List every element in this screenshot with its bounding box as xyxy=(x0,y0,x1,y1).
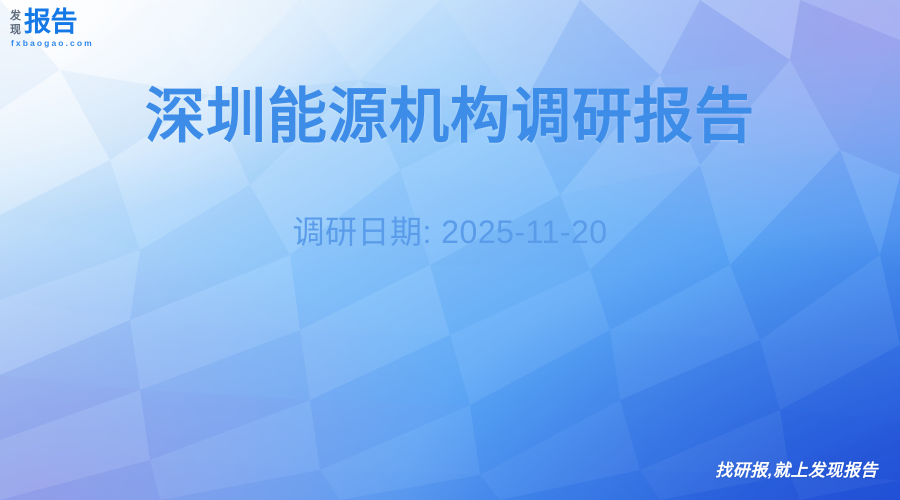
page-title: 深圳能源机构调研报告 xyxy=(0,80,900,154)
logo-mark: 发 现 xyxy=(10,9,21,36)
footer-slogan: 找研报,就上发现报告 xyxy=(715,460,878,482)
cover-text-block: 深圳能源机构调研报告 调研日期: 2025-11-20 xyxy=(0,80,900,252)
logo-domain: fxbaogao.com xyxy=(11,38,94,48)
brand-logo[interactable]: 发 现 报告 fxbaogao.com xyxy=(10,9,94,48)
logo-mark-line2: 现 xyxy=(10,24,21,36)
survey-date-subtitle: 调研日期: 2025-11-20 xyxy=(0,212,900,252)
report-cover-slide: 发 现 报告 fxbaogao.com 深圳能源机构调研报告 调研日期: 202… xyxy=(0,0,900,500)
logo-row: 发 现 报告 xyxy=(10,9,77,36)
logo-mark-line1: 发 xyxy=(10,10,21,22)
logo-wordmark: 报告 xyxy=(24,9,77,36)
